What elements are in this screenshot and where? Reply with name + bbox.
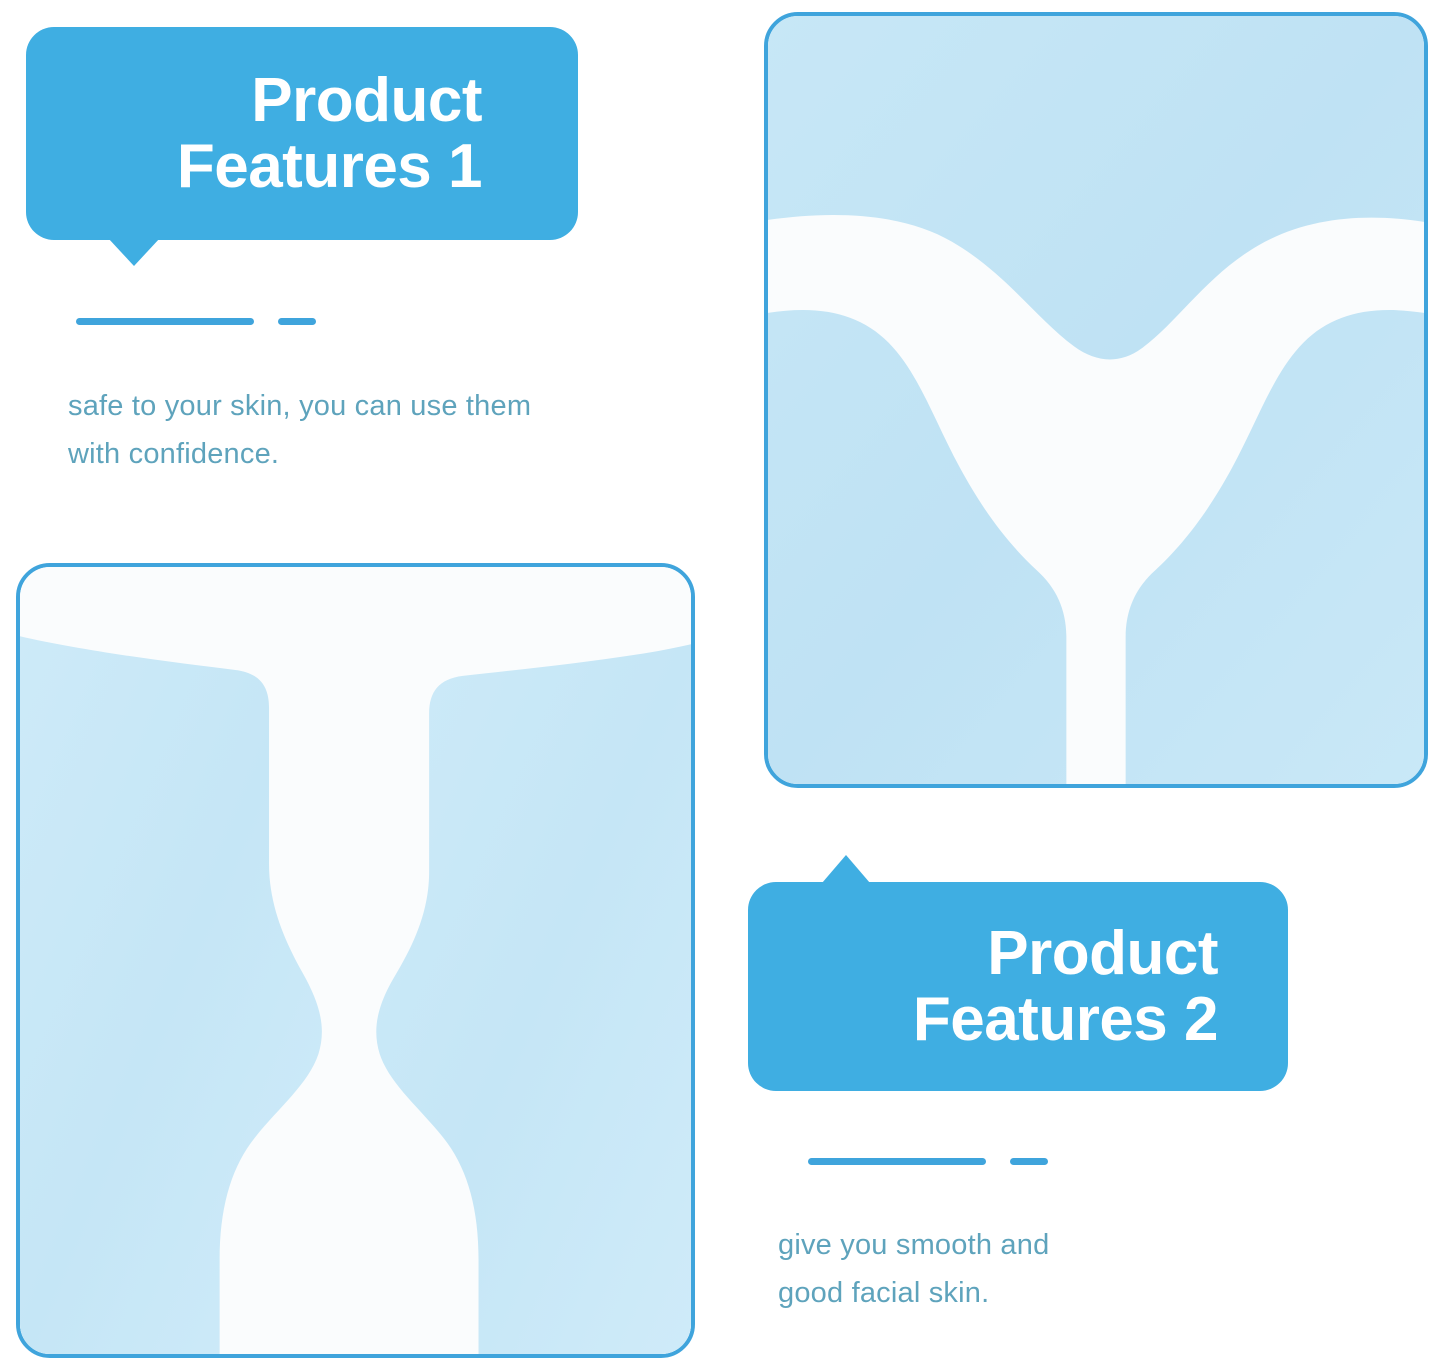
feature-1-title-text: Product Features 1 bbox=[177, 68, 482, 199]
product-photo-card-top-right bbox=[764, 12, 1428, 788]
product-strip-vase-illustration bbox=[20, 567, 691, 1354]
infographic-canvas: Product Features 1 safe to your skin, yo… bbox=[0, 0, 1445, 1358]
feature-1-description: safe to your skin, you can use them with… bbox=[68, 383, 628, 479]
feature-2-title-text: Product Features 2 bbox=[913, 921, 1218, 1052]
product-photo-card-bottom-left bbox=[16, 563, 695, 1358]
feature-2-divider-short-bar bbox=[1010, 1158, 1048, 1165]
feature-2-bubble-tail-up-icon bbox=[822, 855, 870, 883]
feature-1-divider-long-bar bbox=[76, 318, 254, 325]
feature-1-divider bbox=[76, 318, 316, 325]
feature-2-title-bubble: Product Features 2 bbox=[748, 882, 1288, 1091]
feature-2-description: give you smooth and good facial skin. bbox=[778, 1222, 1208, 1318]
feature-2-divider-long-bar bbox=[808, 1158, 986, 1165]
feature-2-divider bbox=[808, 1158, 1048, 1165]
feature-1-bubble-tail-down-icon bbox=[108, 238, 160, 266]
product-strip-hourglass-illustration bbox=[768, 16, 1424, 784]
feature-1-title-bubble: Product Features 1 bbox=[26, 27, 578, 240]
feature-1-divider-short-bar bbox=[278, 318, 316, 325]
